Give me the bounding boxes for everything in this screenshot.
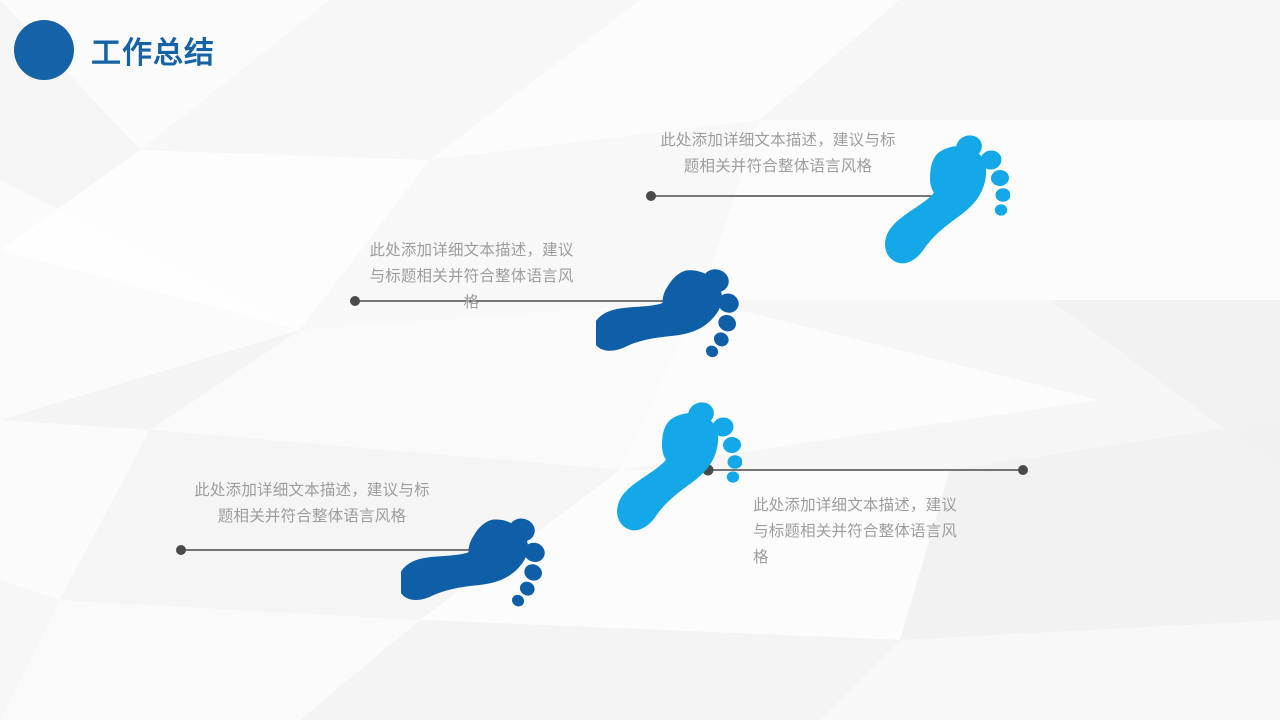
footprint-icon-1 (880, 133, 1010, 278)
connector-dot-start-3 (176, 545, 186, 555)
title-bullet-circle-icon (14, 20, 74, 80)
connector-dot-end-4 (1018, 465, 1028, 475)
connector-line-4 (703, 465, 1029, 476)
description-text-1: 此处添加详细文本描述，建议与标题相关并符合整体语言风格 (660, 128, 896, 180)
slide-canvas: 工作总结 此处添加详细文本描述，建议与标题相关并符合整体语言风格 此处添加详细文… (0, 0, 1280, 720)
footprint-icon-2 (596, 248, 751, 383)
footprint-icon-3 (612, 398, 742, 546)
connector-dot-start-2 (350, 296, 360, 306)
description-text-2: 此处添加详细文本描述，建议与标题相关并符合整体语言风格 (364, 238, 579, 316)
description-text-4: 此处添加详细文本描述，建议与标题相关并符合整体语言风格 (753, 493, 966, 571)
description-text-3: 此处添加详细文本描述，建议与标题相关并符合整体语言风格 (189, 478, 435, 530)
connector-dot-start-1 (646, 191, 656, 201)
slide-title-group: 工作总结 (14, 20, 215, 80)
page-title: 工作总结 (91, 28, 215, 72)
